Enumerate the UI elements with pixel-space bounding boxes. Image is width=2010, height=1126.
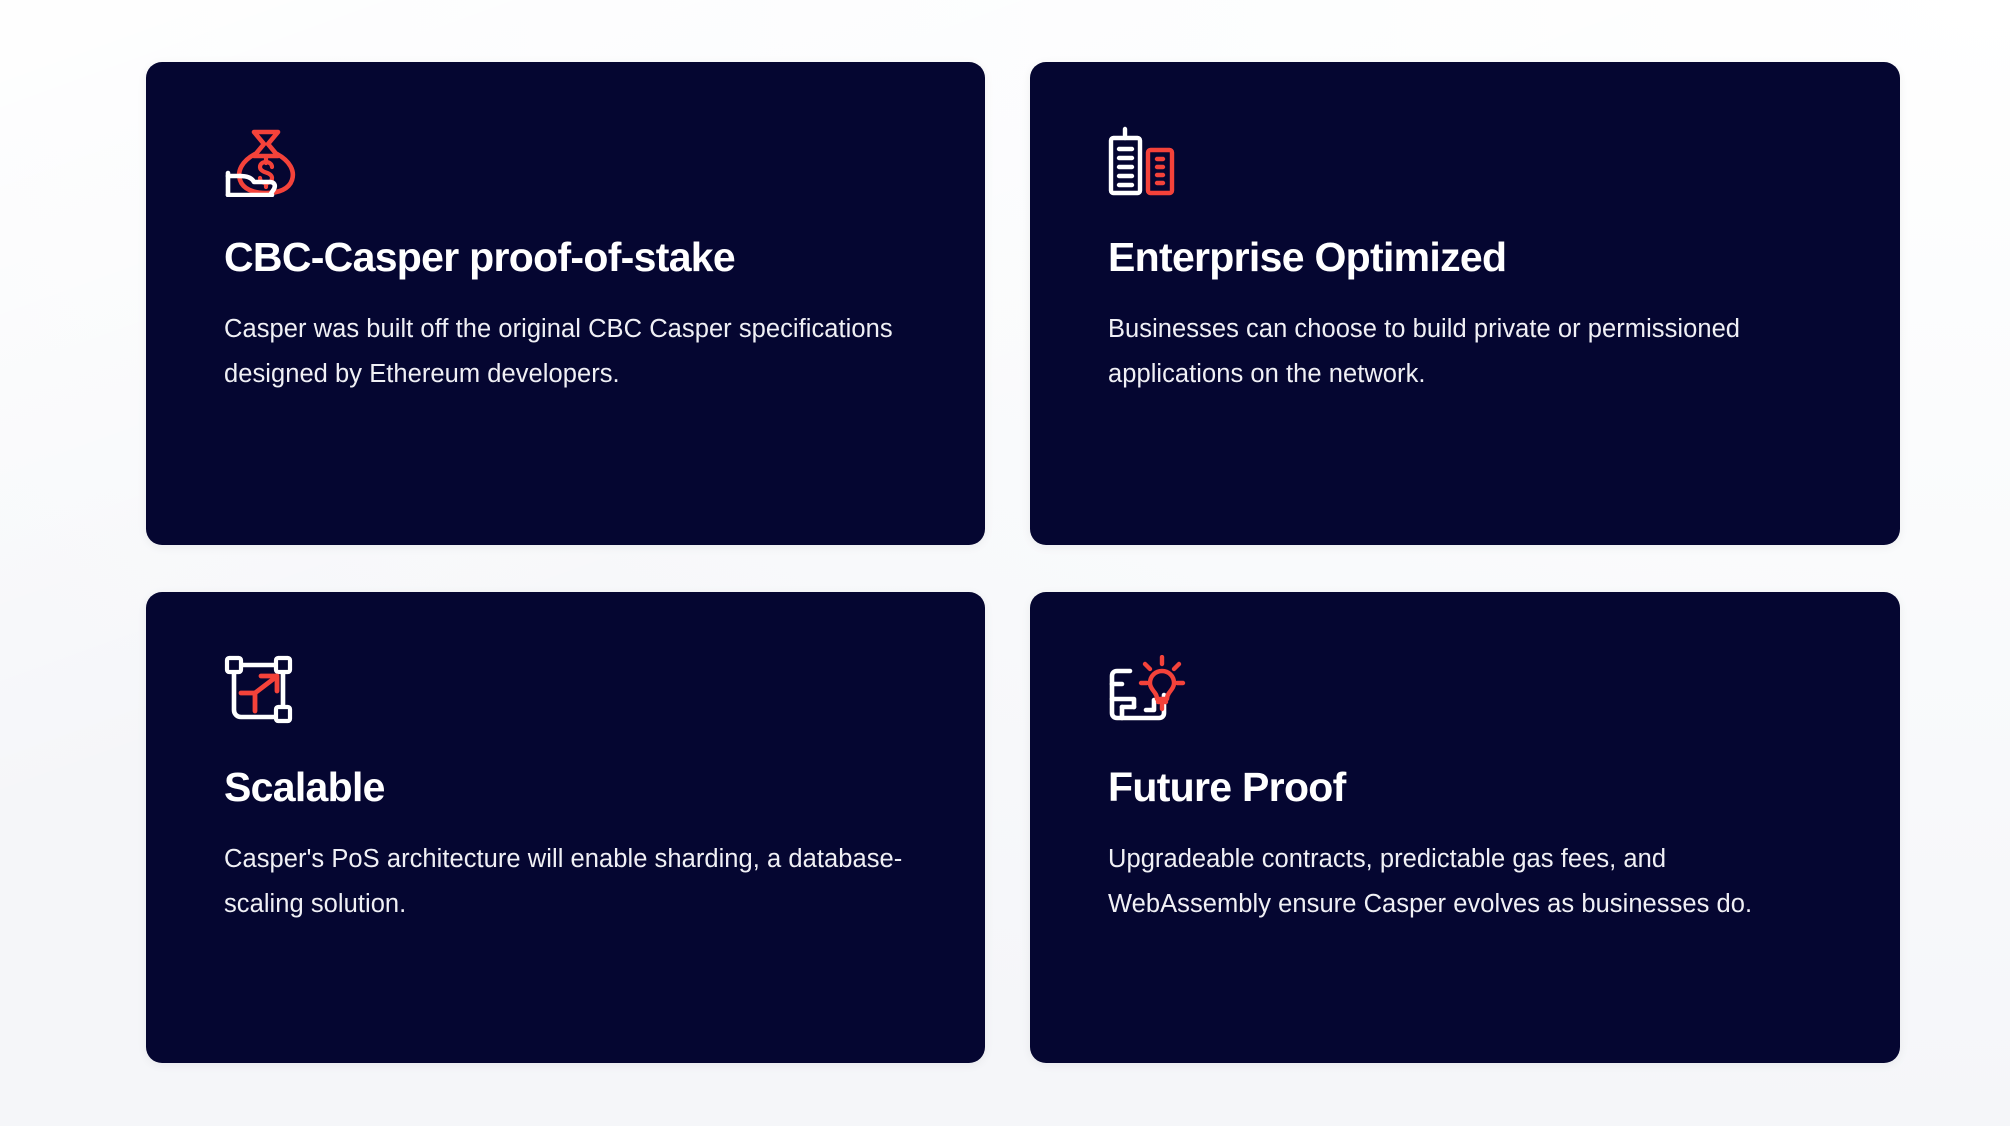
feature-card-future-proof[interactable]: Future Proof Upgradeable contracts, pred… <box>1030 592 1900 1063</box>
card-title: Future Proof <box>1108 765 1836 811</box>
scale-expand-arrow-icon <box>224 655 302 727</box>
feature-cards-grid: CBC-Casper proof-of-stake Casper was bui… <box>146 62 1900 1063</box>
card-body: Casper's PoS architecture will enable sh… <box>224 837 921 927</box>
office-buildings-icon <box>1108 125 1186 197</box>
money-bag-in-hand-icon <box>224 125 302 197</box>
card-title: CBC-Casper proof-of-stake <box>224 235 921 281</box>
blueprint-lightbulb-icon <box>1108 655 1186 727</box>
card-title: Enterprise Optimized <box>1108 235 1836 281</box>
card-body: Upgradeable contracts, predictable gas f… <box>1108 837 1798 927</box>
page-background: CBC-Casper proof-of-stake Casper was bui… <box>0 0 2010 1126</box>
feature-card-scalable[interactable]: Scalable Casper's PoS architecture will … <box>146 592 985 1063</box>
feature-card-enterprise-optimized[interactable]: Enterprise Optimized Businesses can choo… <box>1030 62 1900 545</box>
card-title: Scalable <box>224 765 921 811</box>
feature-card-cbc-casper[interactable]: CBC-Casper proof-of-stake Casper was bui… <box>146 62 985 545</box>
card-body: Casper was built off the original CBC Ca… <box>224 307 921 397</box>
card-body: Businesses can choose to build private o… <box>1108 307 1798 397</box>
